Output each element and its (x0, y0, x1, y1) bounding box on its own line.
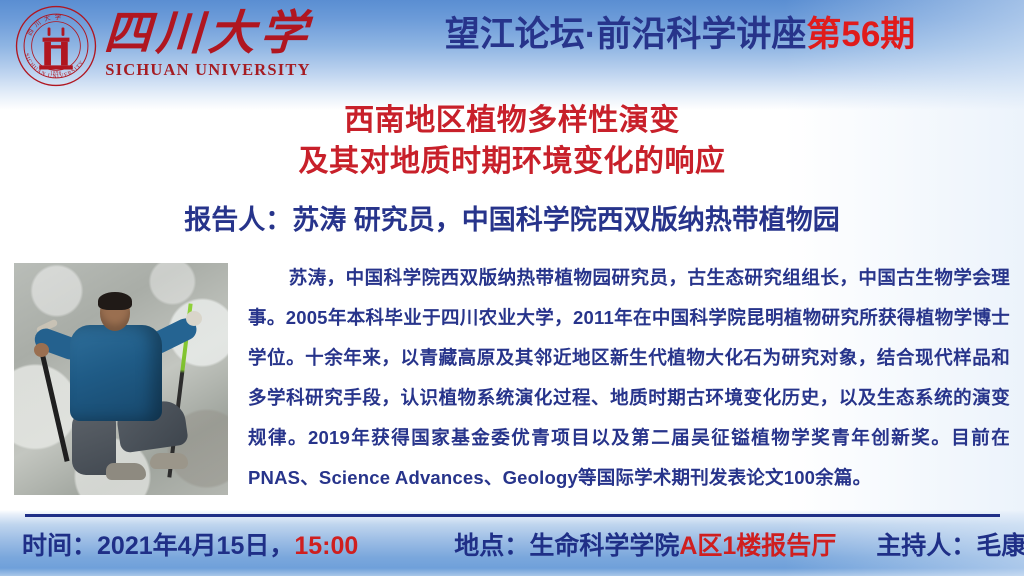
event-host: 主持人：毛康珊 (876, 526, 1024, 562)
speaker-photo-image (14, 263, 228, 495)
speaker-line: 报告人：苏涛 研究员，中国科学院西双版纳热带植物园 (0, 198, 1024, 237)
university-logo-block: 四 川 大 学 SICHUAN UNIVERSITY 1896 四川大学 SIC… (14, 4, 312, 88)
speaker-bio: 苏涛，中国科学院西双版纳热带植物园研究员，古生态研究组组长，中国古生物学会理事。… (248, 258, 1010, 498)
speaker-bio-paragraph: 苏涛，中国科学院西双版纳热带植物园研究员，古生态研究组组长，中国古生物学会理事。… (248, 258, 1010, 498)
event-time-date: 2021年4月15日， (97, 532, 294, 560)
figure-shoe-left (106, 463, 146, 480)
series-title: 望江论坛·前沿科学讲座第56期 (350, 13, 1010, 57)
footer-divider (25, 514, 1000, 517)
lecture-title-line-2: 及其对地质时期环境变化的响应 (0, 141, 1024, 182)
figure-shoe-right (150, 453, 188, 469)
event-host-name: 毛康珊 (976, 532, 1024, 560)
series-issue-label: 第56期 (806, 15, 915, 54)
event-place: 地点：生命科学学院A区1楼报告厅 (454, 526, 836, 562)
event-place-prefix: 生命科学学院 (529, 532, 679, 560)
event-place-label: 地点： (454, 532, 529, 560)
speaker-photo (14, 263, 228, 495)
figure-hand-right-glove (186, 311, 202, 326)
event-time: 时间：2021年4月15日，15:00 (22, 526, 358, 562)
event-time-label: 时间： (22, 532, 97, 560)
series-title-text: 望江论坛·前沿科学讲座 (445, 15, 807, 54)
poster-footer: 时间：2021年4月15日，15:00 地点：生命科学学院A区1楼报告厅 主持人… (0, 524, 1024, 564)
university-name-en: SICHUAN UNIVERSITY (105, 60, 310, 80)
university-name: 四川大学 SICHUAN UNIVERSITY (104, 4, 312, 80)
poster-header: 四 川 大 学 SICHUAN UNIVERSITY 1896 四川大学 SIC… (0, 0, 1024, 95)
event-place-highlight: A区1楼报告厅 (679, 532, 836, 560)
figure-torso-jacket (70, 325, 162, 421)
lecture-poster: 四 川 大 学 SICHUAN UNIVERSITY 1896 四川大学 SIC… (0, 0, 1024, 576)
university-seal-icon: 四 川 大 学 SICHUAN UNIVERSITY 1896 (14, 4, 98, 88)
event-host-label: 主持人： (876, 532, 976, 560)
figure-hand-left (34, 343, 49, 357)
lecture-title: 西南地区植物多样性演变 及其对地质时期环境变化的响应 (0, 100, 1024, 183)
university-name-cn: 四川大学 (103, 10, 314, 59)
lecture-title-line-1: 西南地区植物多样性演变 (0, 100, 1024, 141)
event-time-clock: 15:00 (294, 532, 358, 560)
svg-text:1896: 1896 (50, 72, 62, 77)
figure-hair (98, 292, 132, 310)
